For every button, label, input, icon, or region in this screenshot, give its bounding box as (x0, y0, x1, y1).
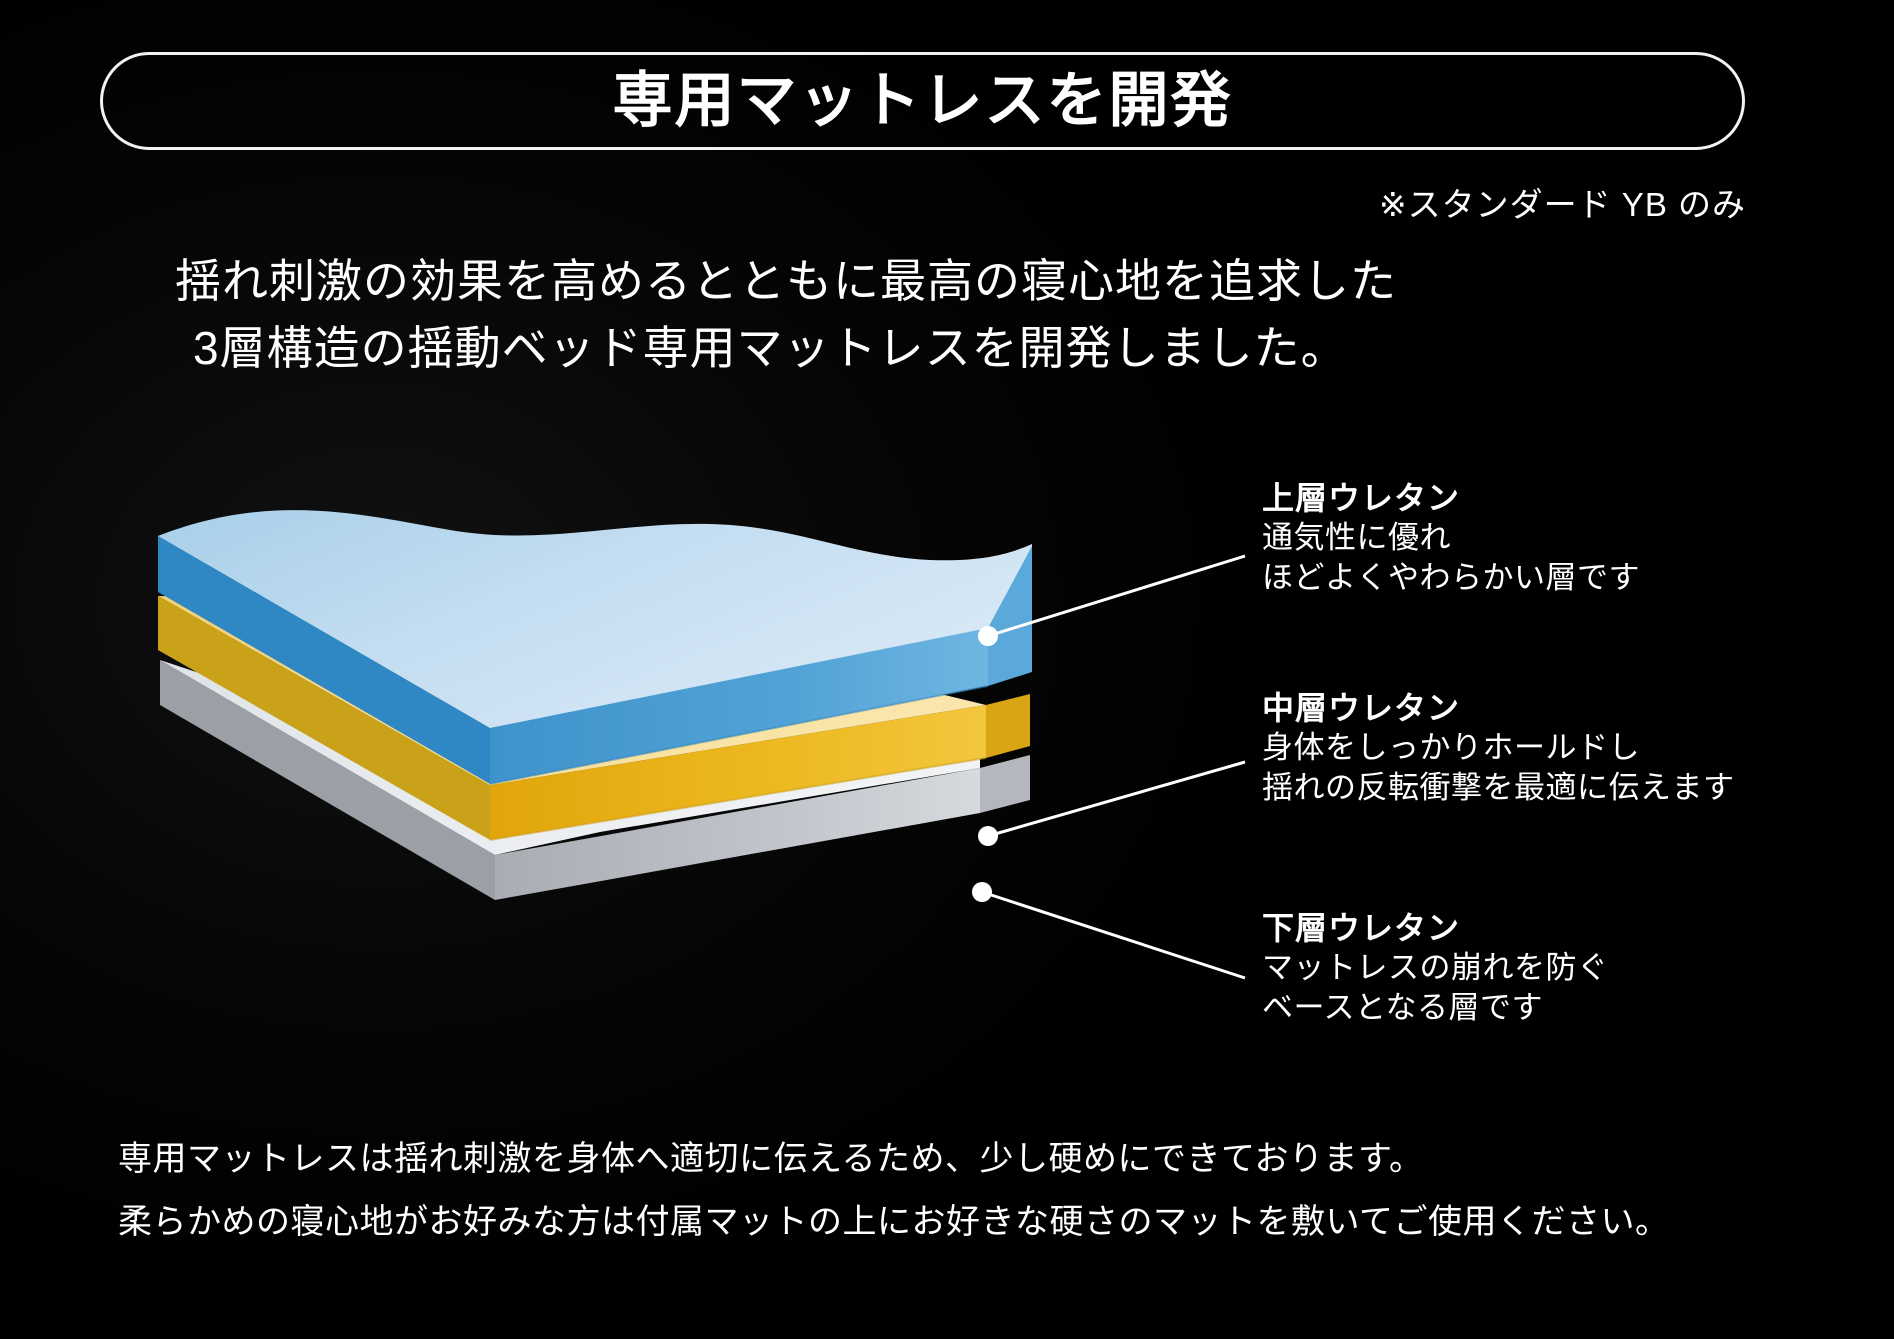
callout-middle-desc-1: 身体をしっかりホールドし (1262, 728, 1735, 768)
mattress-layer-diagram (150, 500, 1250, 1040)
callout-upper-desc-2: ほどよくやわらかい層です (1262, 558, 1640, 598)
callout-upper-title: 上層ウレタン (1262, 478, 1640, 518)
lead-line-2: 3層構造の揺動ベッド専用マットレスを開発しました。 (175, 315, 1735, 382)
callout-lower-title: 下層ウレタン (1262, 908, 1609, 948)
footnotes: 専用マットレスは揺れ刺激を身体へ適切に伝えるため、少し硬めにできております。 柔… (118, 1128, 1798, 1254)
callout-lower-desc-1: マットレスの崩れを防ぐ (1262, 948, 1609, 988)
callout-lower-urethane: 下層ウレタン マットレスの崩れを防ぐ ベースとなる層です (1262, 908, 1609, 1029)
footnote-line-2: 柔らかめの寝心地がお好みな方は付属マットの上にお好きな硬さのマットを敷いてご使用… (118, 1191, 1798, 1254)
page-title: 専用マットレスを開発 (613, 71, 1233, 131)
callout-middle-urethane: 中層ウレタン 身体をしっかりホールドし 揺れの反転衝撃を最適に伝えます (1262, 688, 1735, 809)
footnote-line-1: 専用マットレスは揺れ刺激を身体へ適切に伝えるため、少し硬めにできております。 (118, 1128, 1798, 1191)
callout-lower-desc-2: ベースとなる層です (1262, 988, 1609, 1028)
title-note: ※スタンダード YB のみ (1379, 178, 1746, 226)
callout-middle-title: 中層ウレタン (1262, 688, 1735, 728)
slide-root: 専用マットレスを開発 ※スタンダード YB のみ 揺れ刺激の効果を高めるとともに… (0, 0, 1894, 1339)
callout-middle-desc-2: 揺れの反転衝撃を最適に伝えます (1262, 768, 1735, 808)
lead-paragraph: 揺れ刺激の効果を高めるとともに最高の寝心地を追求した 3層構造の揺動ベッド専用マ… (175, 248, 1735, 381)
callout-upper-urethane: 上層ウレタン 通気性に優れ ほどよくやわらかい層です (1262, 478, 1640, 599)
callout-upper-desc-1: 通気性に優れ (1262, 518, 1640, 558)
title-pill: 専用マットレスを開発 (100, 52, 1745, 150)
lead-line-1: 揺れ刺激の効果を高めるとともに最高の寝心地を追求した (175, 248, 1735, 315)
